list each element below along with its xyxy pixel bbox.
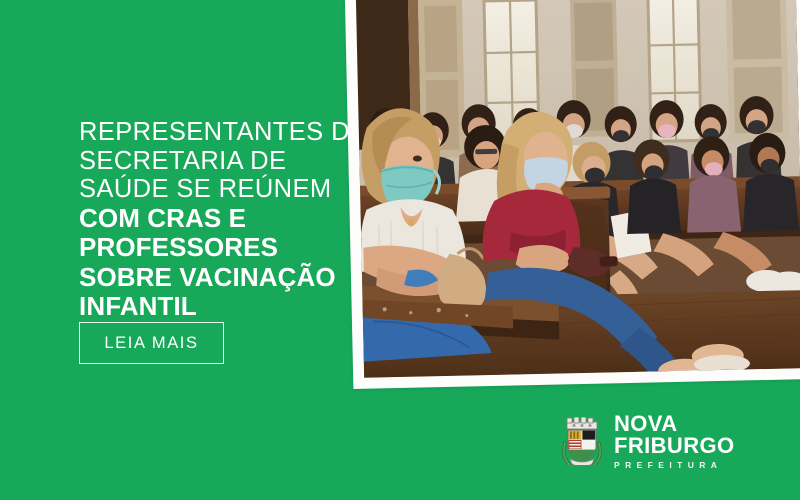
headline-line-4: COM CRAS E	[79, 204, 349, 233]
coat-of-arms-icon	[560, 417, 604, 465]
read-more-label: LEIA MAIS	[104, 334, 198, 353]
read-more-button[interactable]: LEIA MAIS	[79, 322, 224, 364]
logo-line-1: NOVA	[614, 413, 735, 435]
headline-line-5: PROFESSORES	[79, 233, 349, 262]
headline-line-2: SECRETARIA DE	[79, 147, 349, 176]
headline: REPRESENTANTES DA SECRETARIA DE SAÚDE SE…	[79, 118, 349, 321]
headline-line-7: INFANTIL	[79, 292, 349, 321]
headline-line-1: REPRESENTANTES DA	[79, 118, 349, 147]
city-logo: NOVA FRIBURGO PREFEITURA	[560, 413, 735, 470]
headline-line-6: SOBRE VACINAÇÃO	[79, 263, 349, 292]
logo-subtitle: PREFEITURA	[614, 461, 735, 470]
promo-banner: REPRESENTANTES DA SECRETARIA DE SAÚDE SE…	[0, 0, 800, 500]
news-photo	[356, 0, 800, 378]
logo-wordmark: NOVA FRIBURGO PREFEITURA	[614, 413, 735, 470]
photo-illustration	[356, 0, 800, 378]
photo-frame	[345, 0, 800, 389]
headline-line-3: SAÚDE SE REÚNEM	[79, 175, 349, 204]
logo-line-2: FRIBURGO	[614, 435, 735, 457]
